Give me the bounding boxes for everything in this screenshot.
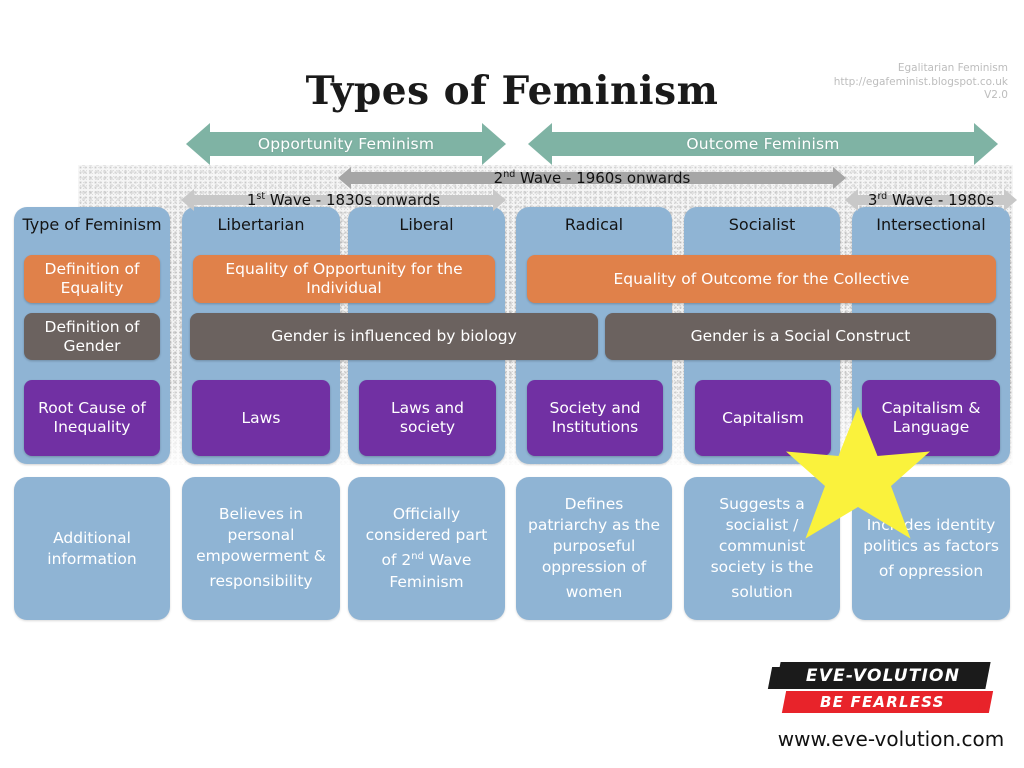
website-url: www.eve-volution.com: [766, 727, 1016, 751]
gender-bar-biology: Gender is influenced by biology: [190, 313, 598, 360]
equality-bar-opportunity: Equality of Opportunity for the Individu…: [193, 255, 495, 303]
scope-arrow-outcome: Outcome Feminism: [528, 123, 998, 165]
scope-arrow-label: Opportunity Feminism: [258, 135, 434, 153]
attribution-line-2: http://egafeminist.blogspot.co.uk: [834, 76, 1008, 90]
column-header-label: Radical: [516, 215, 672, 234]
row-label-definition-of-equality: Definition of Equality: [24, 255, 160, 303]
wave-arrow-label: 3rd Wave - 1980s: [864, 191, 998, 209]
wave-arrow-second: 2nd Wave - 1960s onwards: [338, 167, 846, 189]
attribution-line-1: Egalitarian Feminism: [834, 62, 1008, 76]
wave-arrow-third: 3rd Wave - 1980s: [845, 189, 1017, 211]
equality-bar-outcome: Equality of Outcome for the Collective: [527, 255, 996, 303]
wave-arrow-label: 2nd Wave - 1960s onwards: [490, 169, 695, 187]
additional-info-libertarian: Believes in personal empowerment & respo…: [182, 477, 340, 620]
logo-line-1: EVE-VOLUTION: [806, 666, 960, 686]
arrow-head-right-icon: [833, 167, 846, 189]
logo-banner-black: EVE-VOLUTION: [775, 662, 990, 689]
brand-logo: EVE-VOLUTION BE FEARLESS: [770, 662, 1005, 722]
scope-arrow-label: Outcome Feminism: [686, 135, 839, 153]
arrow-head-left-icon: [845, 189, 858, 211]
additional-info-liberal: Officially considered part of 2nd Wave F…: [348, 477, 505, 620]
infographic-canvas: Types of Feminism Egalitarian Feminism h…: [0, 0, 1024, 768]
arrow-head-right-icon: [974, 123, 998, 165]
row-label-root-cause: Root Cause of Inequality: [24, 380, 160, 456]
additional-info-text: Believes in personal empowerment & respo…: [190, 504, 332, 592]
column-header-label: Intersectional: [852, 215, 1010, 234]
additional-info-text: Officially considered part of 2nd Wave F…: [356, 504, 497, 592]
arrow-head-left-icon: [528, 123, 552, 165]
arrow-head-right-icon: [1004, 189, 1017, 211]
column-header-label: Libertarian: [182, 215, 340, 234]
arrow-head-left-icon: [186, 123, 210, 165]
logo-banner-red: BE FEARLESS: [782, 691, 982, 713]
star-highlight-icon: [783, 404, 933, 559]
arrow-head-right-icon: [482, 123, 506, 165]
row-label-definition-of-gender: Definition of Gender: [24, 313, 160, 360]
additional-info-radical: Defines patriarchy as the purposeful opp…: [516, 477, 672, 620]
row-label-additional-information: Additional information: [14, 477, 170, 620]
root-cause-libertarian: Laws: [192, 380, 330, 456]
column-header-label: Type of Feminism: [14, 215, 170, 234]
logo-line-2: BE FEARLESS: [820, 693, 945, 711]
additional-info-text: Defines patriarchy as the purposeful opp…: [524, 494, 664, 603]
column-header-label: Liberal: [348, 215, 505, 234]
wave-arrow-label: 1st Wave - 1830s onwards: [243, 191, 444, 209]
scope-arrow-opportunity: Opportunity Feminism: [186, 123, 506, 165]
arrow-head-left-icon: [338, 167, 351, 189]
attribution-line-3: V2.0: [834, 89, 1008, 103]
attribution-block: Egalitarian Feminism http://egafeminist.…: [834, 62, 1008, 103]
root-cause-liberal: Laws and society: [359, 380, 496, 456]
gender-bar-social-construct: Gender is a Social Construct: [605, 313, 996, 360]
column-header-label: Socialist: [684, 215, 840, 234]
arrow-head-right-icon: [493, 189, 506, 211]
arrow-head-left-icon: [181, 189, 194, 211]
root-cause-radical: Society and Institutions: [527, 380, 663, 456]
